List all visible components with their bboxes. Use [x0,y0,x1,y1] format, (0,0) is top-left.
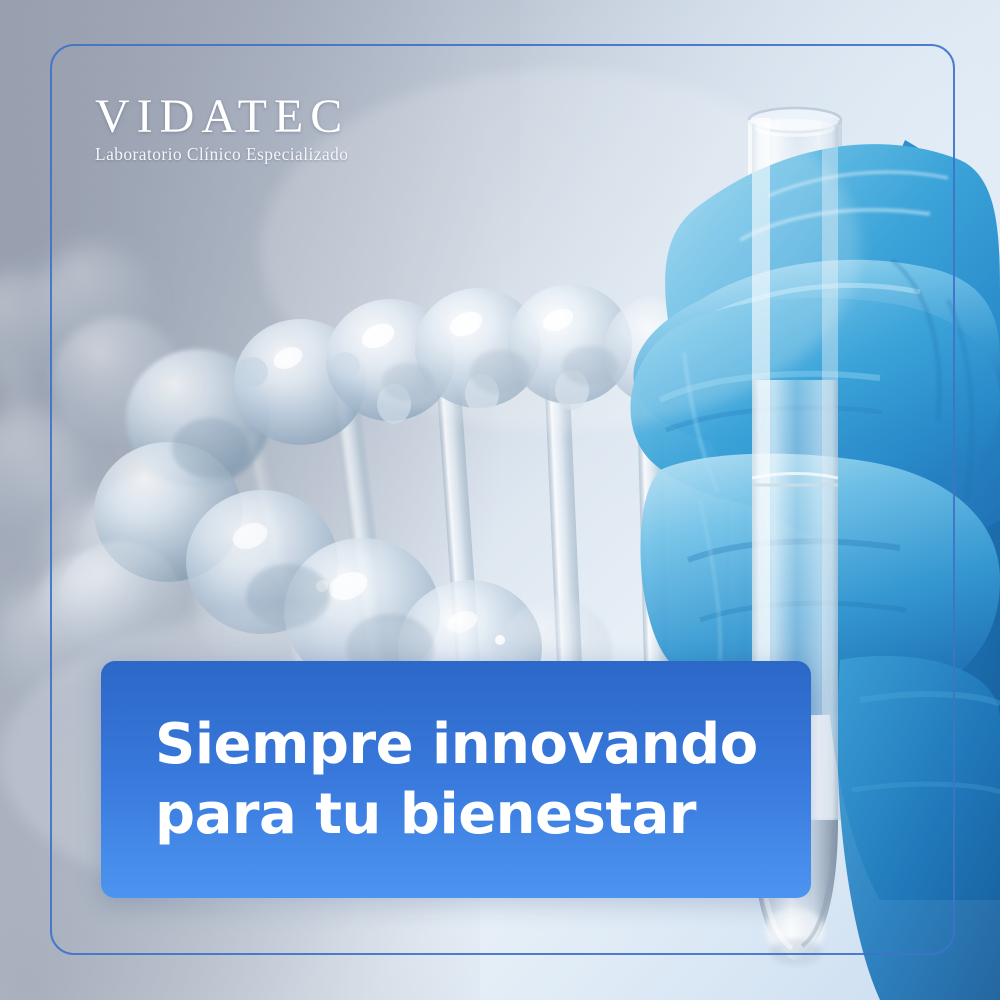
headline-line-1: Siempre innovando [155,710,811,780]
brand-name: VIDATEC [95,92,515,142]
headline-line-2: para tu bienestar [155,780,811,850]
glove-cuff [837,656,1000,1000]
brand-tagline: Laboratorio Clínico Especializado [95,144,515,164]
headline-banner: Siempre innovando para tu bienestar [101,661,811,898]
social-post-canvas: VIDATEC Laboratorio Clínico Especializad… [0,0,1000,1000]
brand-logo: VIDATEC Laboratorio Clínico Especializad… [95,92,515,164]
